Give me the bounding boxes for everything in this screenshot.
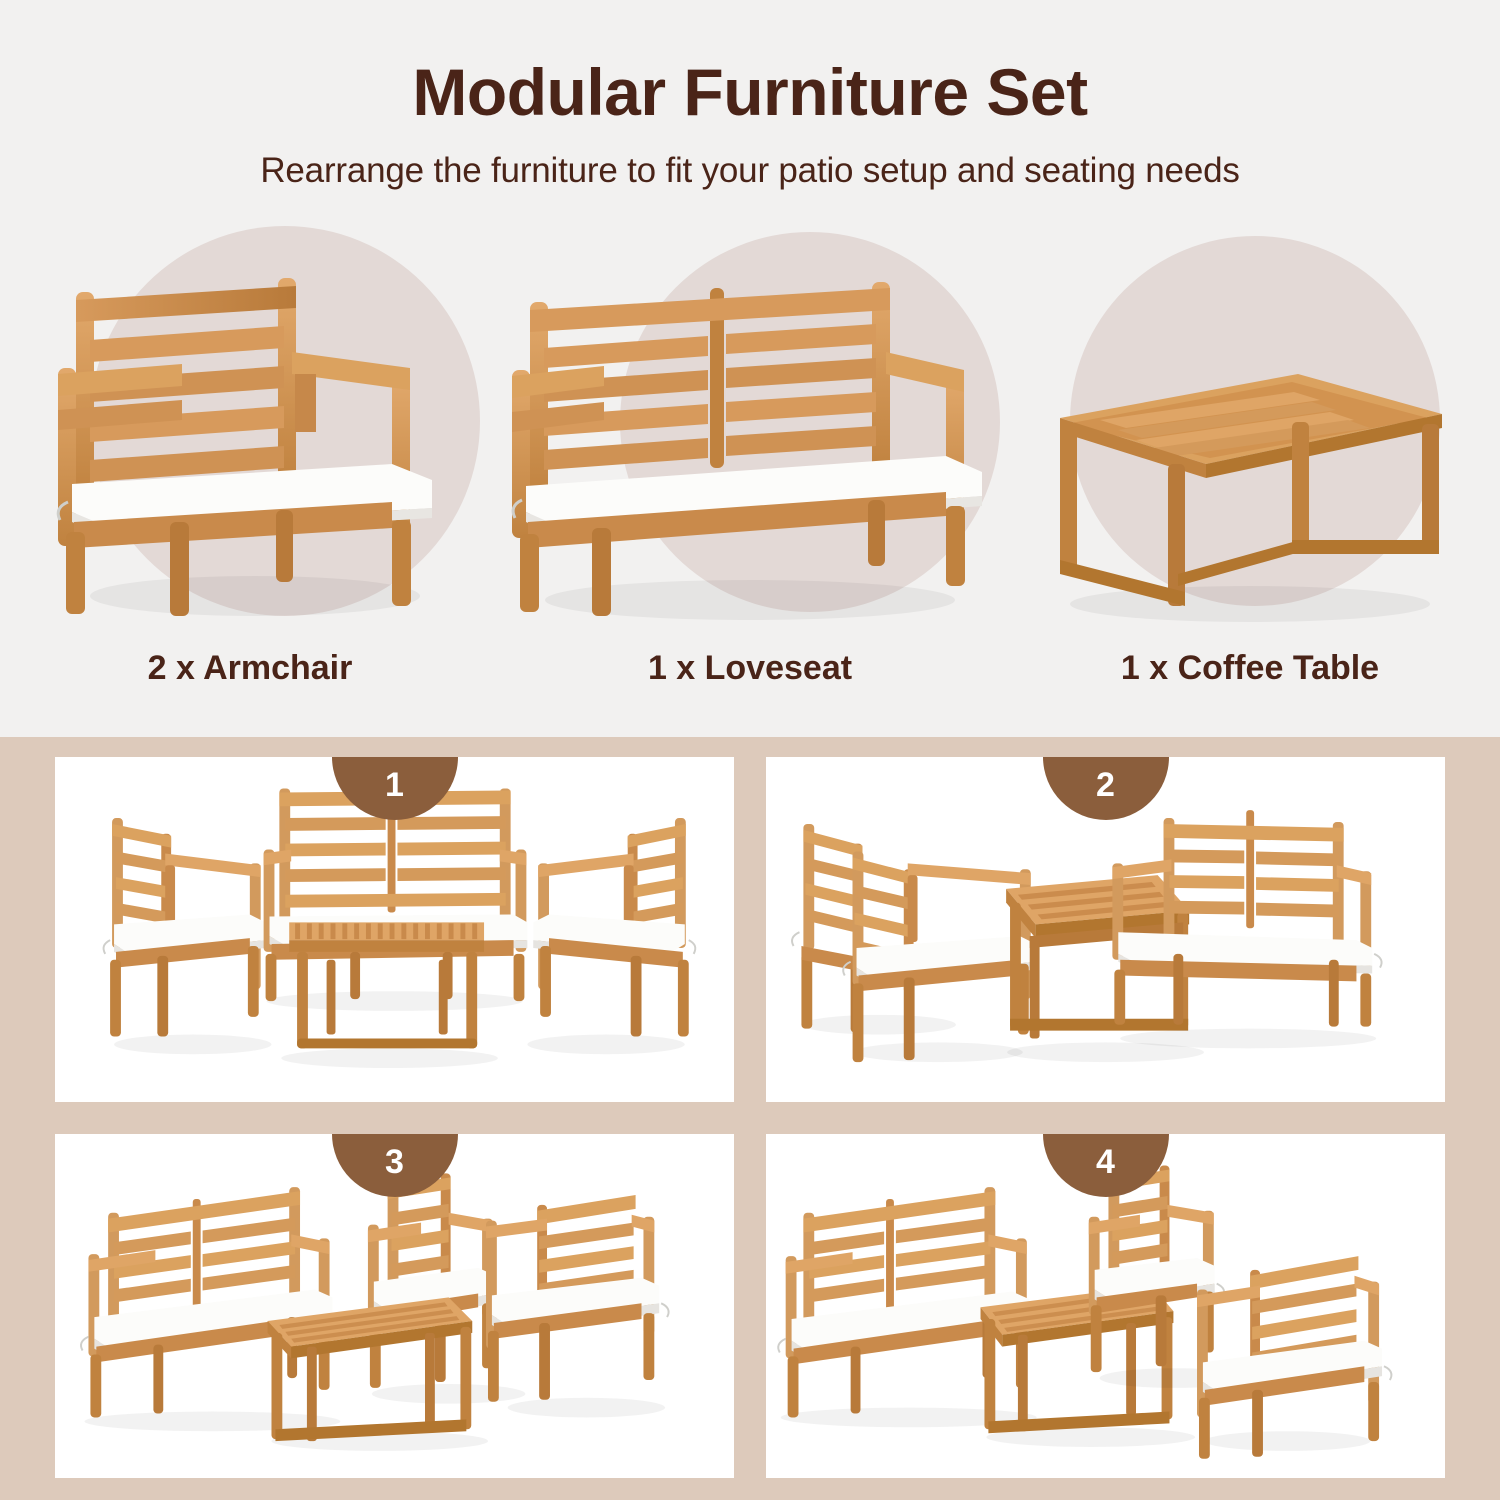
- coffee-table-icon: [1030, 296, 1470, 641]
- armchair-back-left: [792, 824, 956, 1035]
- armchair-far-right: [486, 1195, 669, 1417]
- infographic-page: Modular Furniture Set Rearrange the furn…: [0, 0, 1500, 1500]
- arrangement-card-3[interactable]: 3: [55, 1134, 734, 1479]
- arrangements-section: 1: [0, 737, 1500, 1500]
- loveseat-icon: [500, 256, 1000, 641]
- loveseat-caption: 1 x Loveseat: [648, 649, 852, 688]
- armchair-lower-right: [1197, 1256, 1391, 1459]
- arrangement-card-4[interactable]: 4: [766, 1134, 1445, 1479]
- arrangement-card-1[interactable]: 1: [55, 757, 734, 1102]
- armchair-middle: [368, 1173, 525, 1403]
- page-subtitle: Rearrange the furniture to fit your pati…: [0, 127, 1500, 191]
- arrangement-card-2[interactable]: 2: [766, 757, 1445, 1102]
- armchair-left: [104, 818, 272, 1054]
- armchair-right: [527, 818, 695, 1054]
- product-list: 2 x Armchair: [0, 218, 1500, 688]
- hero-section: Modular Furniture Set Rearrange the furn…: [0, 0, 1500, 737]
- page-title: Modular Furniture Set: [0, 0, 1500, 127]
- product-item-coffee-table: 1 x Coffee Table: [1000, 218, 1500, 688]
- armchair-icon: [40, 256, 460, 641]
- coffee-table-caption: 1 x Coffee Table: [1121, 649, 1379, 688]
- product-item-armchair: 2 x Armchair: [0, 218, 500, 688]
- loveseat-left: [81, 1187, 340, 1431]
- armchair-caption: 2 x Armchair: [148, 649, 353, 688]
- product-item-loveseat: 1 x Loveseat: [500, 218, 1000, 688]
